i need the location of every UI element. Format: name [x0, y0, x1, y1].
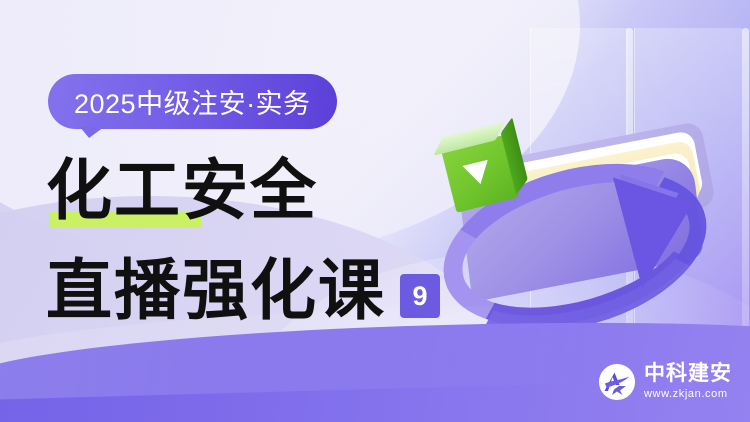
course-badge-pill: 2025中级注安·实务 — [48, 74, 337, 129]
brand-logo-text: 中科建安 www.zkjan.com — [644, 363, 732, 400]
headline-block: 化工安全 直播强化课 9 — [46, 154, 440, 328]
course-badge-label: 2025中级注安·实务 — [74, 82, 311, 121]
brand-emblem-icon — [599, 364, 635, 400]
brand-logo: 中科建安 www.zkjan.com — [599, 363, 732, 400]
course-badge-tail — [80, 127, 104, 138]
course-promo-banner: 2025中级注安·实务 化工安全 直播强化课 9 中科建安 www.zkjan.… — [0, 0, 750, 422]
brand-url: www.zkjan.com — [644, 389, 732, 400]
course-badge: 2025中级注安·实务 — [48, 74, 337, 129]
brand-name: 中科建安 — [644, 363, 732, 384]
headline-line-2: 直播强化课 9 — [46, 254, 440, 328]
episode-number-badge: 9 — [400, 274, 440, 318]
headline-line-2-text: 直播强化课 — [46, 254, 386, 328]
headline-line-1-text: 化工安全 — [46, 154, 440, 228]
headline-line-1: 化工安全 — [46, 154, 440, 228]
